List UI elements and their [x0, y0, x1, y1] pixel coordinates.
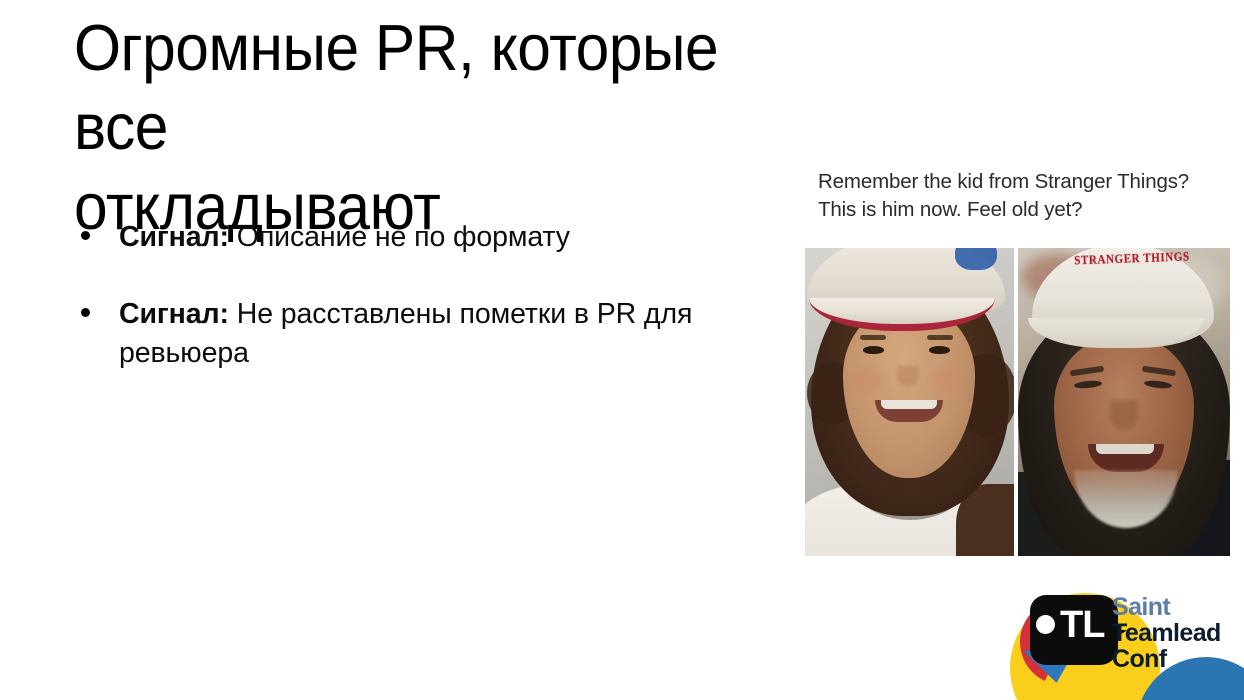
boy-cheek-right [931, 368, 965, 394]
presentation-slide: Огромные PR, которые все откладывают Сиг… [0, 0, 1244, 700]
stranger-things-cap-text: STRANGER THINGS [1072, 251, 1192, 268]
list-item: Сигнал: Описание не по формату [78, 218, 768, 257]
man-nose [1110, 400, 1138, 430]
meme-photo-pair: STRANGER THINGS [805, 248, 1230, 556]
boy-eyebrow-right [927, 335, 953, 340]
slide-title: Огромные PR, которые все откладывают [74, 8, 809, 246]
logo-wordmark: Saint Teamlead Conf [1112, 594, 1221, 672]
boy-teeth [881, 400, 937, 409]
man-teeth [1096, 444, 1154, 454]
logo-line-conf: Conf [1112, 646, 1221, 672]
logo-line-teamlead: Teamlead [1112, 620, 1221, 646]
logo-line-saint: Saint [1112, 594, 1221, 620]
meme-caption: Remember the kid from Stranger Things? T… [805, 168, 1218, 225]
bullet-dot-icon [81, 308, 90, 317]
bullet-dot-icon [81, 231, 90, 240]
bullet-label: Сигнал: [119, 298, 229, 330]
boy-nose [897, 366, 919, 386]
older-man-photo: STRANGER THINGS [1018, 248, 1230, 556]
meme-block: Remember the kid from Stranger Things? T… [805, 168, 1230, 225]
boy-eye-left [863, 346, 884, 354]
bullet-list: Сигнал: Описание не по формату Сигнал: Н… [78, 218, 768, 372]
logo-white-dot [1036, 615, 1055, 634]
logo-tl-monogram: TL [1060, 606, 1104, 644]
conference-logo: TL Saint Teamlead Conf [1004, 585, 1244, 700]
bullet-text: Описание не по формату [229, 221, 570, 253]
boy-eye-right [929, 346, 950, 354]
bullet-label: Сигнал: [119, 221, 229, 253]
boy-cheek-left [849, 368, 883, 394]
boy-eyebrow-left [860, 335, 886, 340]
boy-cap-blue-patch [955, 248, 997, 270]
list-item: Сигнал: Не расставлены пометки в PR для … [78, 295, 768, 373]
young-boy-photo [805, 248, 1014, 556]
